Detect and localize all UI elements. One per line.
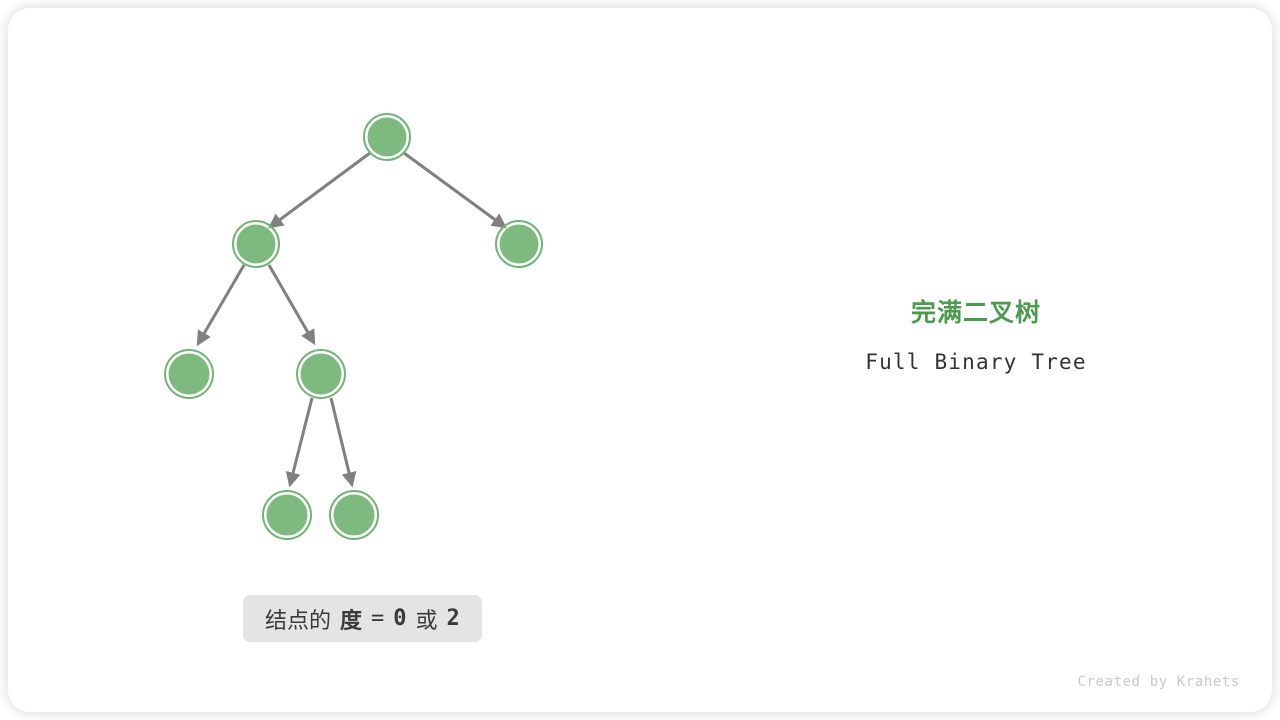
- caption-degree-term: 度: [340, 603, 362, 635]
- caption-conjunction: 或: [416, 603, 438, 635]
- tree-node-left-right-right[interactable]: [330, 491, 378, 539]
- tree-edges: [198, 153, 505, 485]
- diagram-title-cn: 完满二叉树: [716, 300, 1236, 328]
- edge-left-to-leftright: [269, 265, 314, 343]
- caption-equals: =: [371, 606, 384, 631]
- tree-node-left-right[interactable]: [297, 350, 345, 398]
- edge-root-to-left: [270, 153, 370, 227]
- diagram-title-en: Full Binary Tree: [716, 350, 1236, 374]
- edge-left-to-leftleft: [198, 265, 244, 344]
- title-block: 完满二叉树 Full Binary Tree: [716, 300, 1236, 374]
- tree-node-left[interactable]: [233, 221, 279, 267]
- caption-value-two: 2: [447, 606, 460, 631]
- diagram-card: 完满二叉树 Full Binary Tree 结点的度 = 0 或 2 Crea…: [8, 8, 1272, 712]
- tree-node-right[interactable]: [496, 221, 542, 267]
- edge-leftright-to-right: [331, 398, 352, 485]
- credit-text: Created by Krahets: [1077, 674, 1240, 690]
- diagram-stage: 完满二叉树 Full Binary Tree 结点的度 = 0 或 2 Crea…: [0, 0, 1280, 720]
- tree-node-root[interactable]: [364, 114, 410, 160]
- tree-node-left-right-left[interactable]: [263, 491, 311, 539]
- edge-leftright-to-left: [290, 398, 312, 485]
- caption-prefix: 结点的: [265, 603, 331, 635]
- degree-caption-badge: 结点的度 = 0 或 2: [243, 595, 482, 642]
- edge-root-to-right: [404, 153, 505, 227]
- caption-value-zero: 0: [393, 606, 406, 631]
- tree-node-left-left[interactable]: [165, 350, 213, 398]
- tree-nodes: [165, 114, 542, 539]
